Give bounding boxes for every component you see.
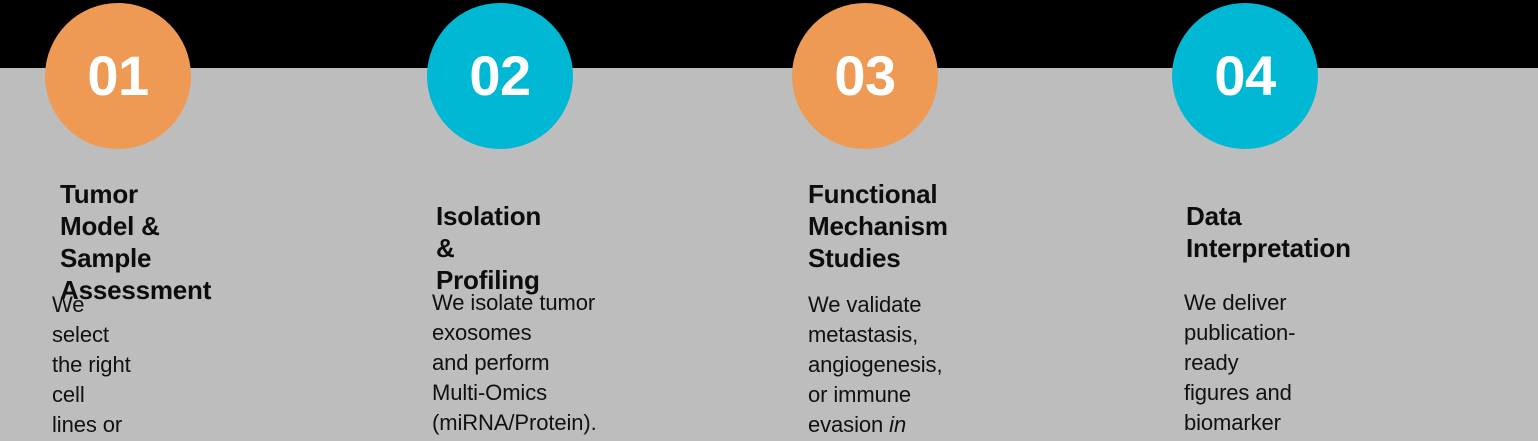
step-description-text: We validate metastasis, angiogenesis, or…: [808, 292, 942, 437]
step-number-badge: 04: [1172, 3, 1318, 149]
step-number-label: 03: [834, 48, 895, 104]
step-title: Functional Mechanism Studies: [808, 178, 948, 274]
process-steps-infographic: 01Tumor Model & Sample AssessmentWe sele…: [0, 0, 1538, 441]
step-number-badge: 01: [45, 3, 191, 149]
step-description-text: We select the right cell lines or clinic…: [52, 292, 133, 441]
step-title: Data Interpretation: [1186, 200, 1351, 264]
step-description-text: We isolate tumor exosomes and perform Mu…: [432, 290, 597, 435]
step-title: Isolation & Profiling: [436, 200, 541, 296]
step-number-label: 01: [87, 48, 148, 104]
step-number-badge: 03: [792, 3, 938, 149]
step-description: We deliver publication- ready figures an…: [1184, 288, 1295, 441]
step-description: We isolate tumor exosomes and perform Mu…: [432, 288, 597, 438]
step-description: We validate metastasis, angiogenesis, or…: [808, 290, 942, 441]
step-number-badge: 02: [427, 3, 573, 149]
step-description: We select the right cell lines or clinic…: [52, 290, 133, 441]
step-number-label: 04: [1214, 48, 1275, 104]
step-number-label: 02: [469, 48, 530, 104]
step-title: Tumor Model & Sample Assessment: [60, 178, 211, 306]
step-description-text: We deliver publication- ready figures an…: [1184, 290, 1295, 441]
